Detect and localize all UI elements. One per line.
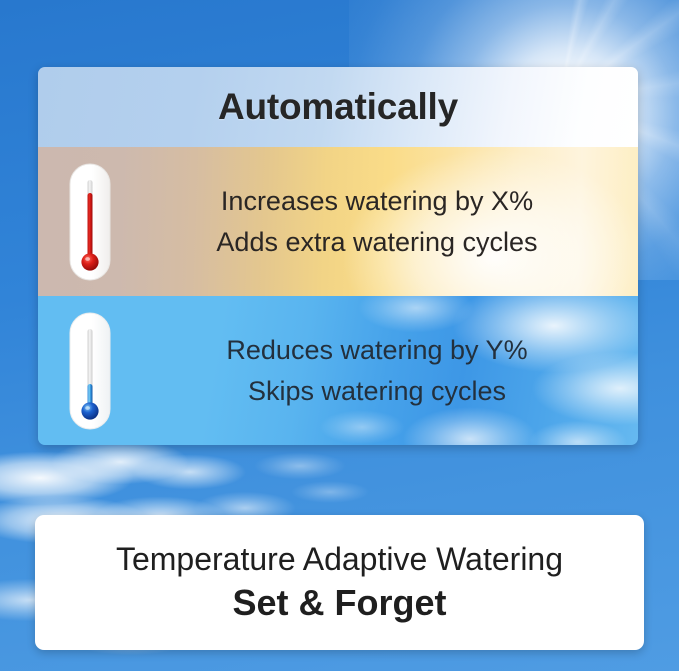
feature-card-title: Automatically xyxy=(218,86,458,128)
feature-row-cold-line-1: Reduces watering by Y% xyxy=(226,331,527,369)
feature-card: Automatically xyxy=(38,67,638,445)
caption-card: Temperature Adaptive Watering Set & Forg… xyxy=(35,515,644,650)
caption-primary-text: Temperature Adaptive Watering xyxy=(116,540,563,579)
feature-row-cold-text: Reduces watering by Y% Skips watering cy… xyxy=(142,331,638,410)
feature-row-hot-text: Increases watering by X% Adds extra wate… xyxy=(142,182,638,261)
feature-row-hot-line-2: Adds extra watering cycles xyxy=(216,223,537,261)
feature-row-hot-line-1: Increases watering by X% xyxy=(221,182,533,220)
feature-row-cold: Reduces watering by Y% Skips watering cy… xyxy=(38,296,638,445)
feature-row-hot: Increases watering by X% Adds extra wate… xyxy=(38,147,638,296)
thermometer-hot-icon xyxy=(38,163,142,281)
product-feature-image: Automatically xyxy=(0,0,679,671)
feature-row-cold-line-2: Skips watering cycles xyxy=(248,372,506,410)
caption-secondary-text: Set & Forget xyxy=(232,581,446,625)
thermometer-cold-icon xyxy=(38,312,142,430)
feature-card-header: Automatically xyxy=(38,67,638,147)
